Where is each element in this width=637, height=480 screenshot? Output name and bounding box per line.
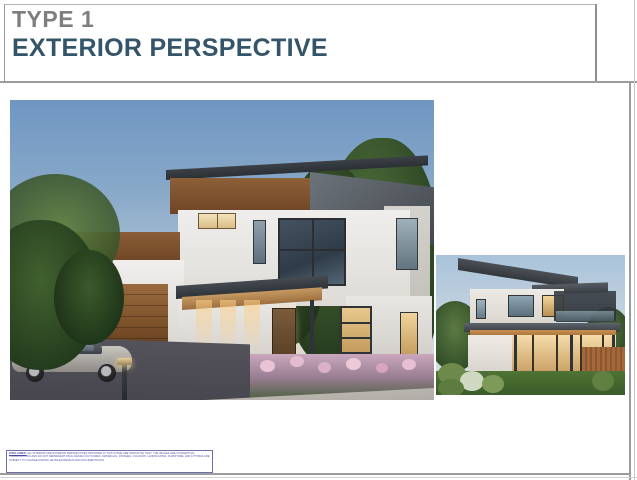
car-wheel-front xyxy=(98,364,116,382)
window-mullion-vertical xyxy=(312,220,314,284)
frame-top-rule xyxy=(4,4,596,5)
drawing-sheet: TYPE 1 EXTERIOR PERSPECTIVE xyxy=(0,0,637,480)
window-mullion-horizontal xyxy=(280,249,344,251)
ground-window-right xyxy=(400,312,418,358)
bollard-light-post xyxy=(122,362,127,400)
sheet-right-edge-rule xyxy=(634,0,635,480)
sheet-bottom-rule-2 xyxy=(0,477,637,478)
window-mullion xyxy=(217,214,218,228)
upper-clerestory-window xyxy=(198,213,236,229)
main-exterior-render xyxy=(10,100,434,400)
upper-slim-window xyxy=(253,220,266,264)
sheet-header: TYPE 1 EXTERIOR PERSPECTIVE xyxy=(12,6,328,63)
titleblock-divider-horizontal xyxy=(0,81,596,83)
secondary-rear-render xyxy=(436,255,625,395)
bollard-light-head xyxy=(117,358,132,365)
disclaimer-note: DISCLAIMER: ALL INTERIOR AND EXTERIOR PE… xyxy=(6,450,213,473)
page-title: EXTERIOR PERSPECTIVE xyxy=(12,33,328,63)
titleblock-divider-vertical-a xyxy=(595,4,597,82)
titleblock-divider-vertical-b xyxy=(629,83,631,480)
foreground-shrub-left xyxy=(54,250,124,345)
upper-window-right xyxy=(396,218,418,270)
timber-boundary-fence xyxy=(582,347,625,371)
upper-window-2 xyxy=(508,295,534,317)
sheet-corner-note xyxy=(548,468,630,473)
upper-window-1 xyxy=(476,299,486,319)
sheet-bottom-rule xyxy=(0,473,630,475)
drawing-type-label: TYPE 1 xyxy=(12,6,328,32)
upper-timber-cladding xyxy=(170,178,310,214)
frame-left-rule xyxy=(4,4,5,82)
balcony-glass-balustrade xyxy=(556,311,614,322)
disclaimer-body: ALL INTERIOR AND EXTERIOR PERSPECTIVES P… xyxy=(9,452,210,462)
